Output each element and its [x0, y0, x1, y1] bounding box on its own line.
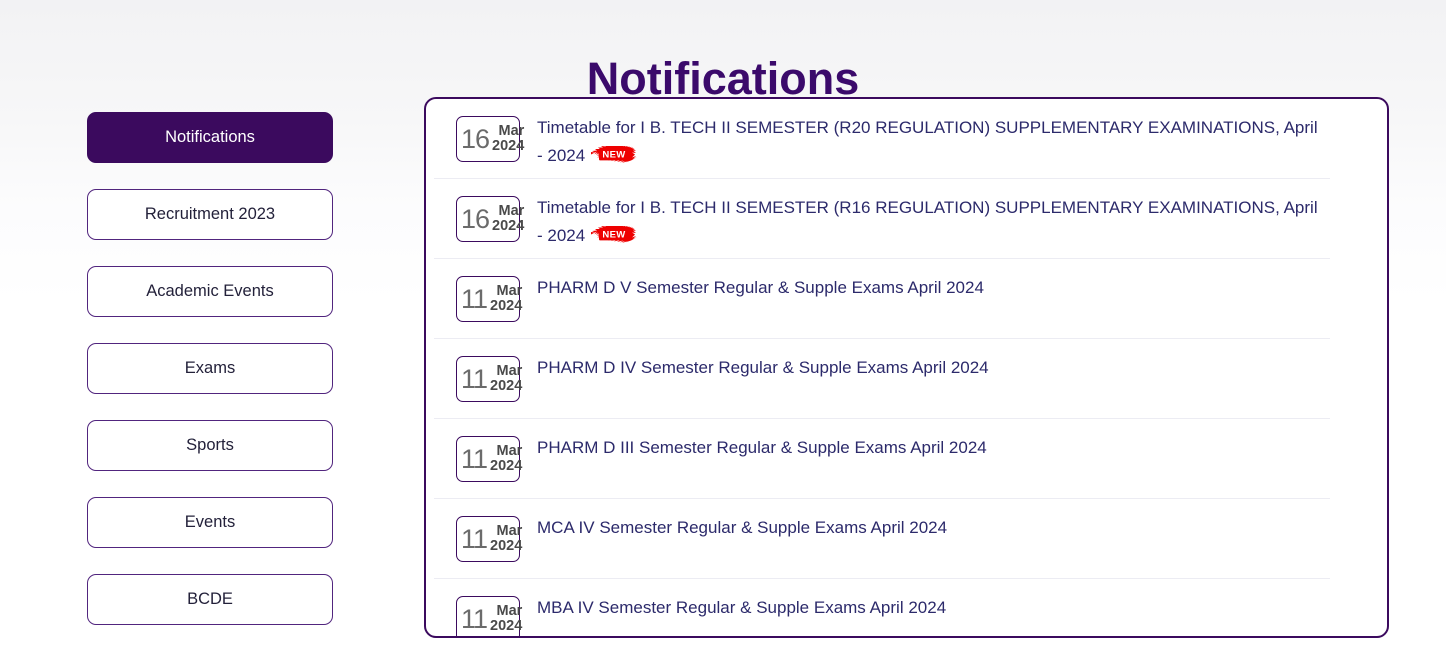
- new-badge-icon: NEW: [591, 226, 637, 243]
- sidebar-item-academic-events[interactable]: Academic Events: [87, 266, 333, 317]
- sidebar-item-events[interactable]: Events: [87, 497, 333, 548]
- date-day: 11: [461, 286, 487, 313]
- notification-row[interactable]: 16Mar2024Timetable for I B. TECH II SEME…: [426, 179, 1387, 259]
- notification-title: PHARM D III Semester Regular & Supple Ex…: [537, 438, 987, 457]
- notification-date-badge: 11Mar2024: [456, 276, 520, 322]
- sidebar-item-label: BCDE: [187, 590, 233, 609]
- notification-date-badge: 11Mar2024: [456, 596, 520, 638]
- date-year: 2024: [490, 299, 522, 314]
- notification-date-badge: 11Mar2024: [456, 436, 520, 482]
- notification-row[interactable]: 11Mar2024PHARM D IV Semester Regular & S…: [426, 339, 1387, 419]
- date-month: Mar: [497, 604, 523, 619]
- date-year: 2024: [490, 379, 522, 394]
- notification-title: PHARM D V Semester Regular & Supple Exam…: [537, 278, 984, 297]
- date-day: 16: [461, 126, 489, 153]
- date-month-year: Mar2024: [492, 204, 524, 234]
- date-day: 11: [461, 366, 487, 393]
- svg-text:NEW: NEW: [603, 229, 626, 240]
- date-month-year: Mar2024: [490, 604, 522, 634]
- date-month: Mar: [499, 124, 525, 139]
- date-month-year: Mar2024: [490, 364, 522, 394]
- date-month: Mar: [497, 284, 523, 299]
- notification-row[interactable]: 16Mar2024Timetable for I B. TECH II SEME…: [426, 99, 1387, 179]
- notification-link[interactable]: PHARM D V Semester Regular & Supple Exam…: [537, 273, 984, 302]
- notification-date-badge: 16Mar2024: [456, 196, 520, 242]
- date-day: 11: [461, 606, 487, 633]
- notification-link[interactable]: Timetable for I B. TECH II SEMESTER (R20…: [537, 113, 1327, 169]
- date-day: 16: [461, 206, 489, 233]
- notifications-list[interactable]: 16Mar2024Timetable for I B. TECH II SEME…: [426, 99, 1387, 638]
- date-month-year: Mar2024: [492, 124, 524, 154]
- notification-title: Timetable for I B. TECH II SEMESTER (R20…: [537, 118, 1318, 165]
- notification-title: MCA IV Semester Regular & Supple Exams A…: [537, 518, 947, 537]
- new-badge-icon: NEW: [591, 146, 637, 163]
- svg-text:NEW: NEW: [603, 149, 626, 160]
- notifications-panel: 16Mar2024Timetable for I B. TECH II SEME…: [424, 97, 1389, 638]
- sidebar-item-label: Sports: [186, 436, 234, 455]
- notification-title: MBA IV Semester Regular & Supple Exams A…: [537, 598, 946, 617]
- notification-link[interactable]: Timetable for I B. TECH II SEMESTER (R16…: [537, 193, 1327, 249]
- notification-date-badge: 11Mar2024: [456, 356, 520, 402]
- date-month-year: Mar2024: [490, 524, 522, 554]
- date-month-year: Mar2024: [490, 284, 522, 314]
- sidebar-item-label: Recruitment 2023: [145, 205, 275, 224]
- date-year: 2024: [490, 539, 522, 554]
- notification-row[interactable]: 11Mar2024PHARM D V Semester Regular & Su…: [426, 259, 1387, 339]
- notification-title: PHARM D IV Semester Regular & Supple Exa…: [537, 358, 989, 377]
- date-month-year: Mar2024: [490, 444, 522, 474]
- notification-link[interactable]: MBA IV Semester Regular & Supple Exams A…: [537, 593, 946, 622]
- date-year: 2024: [492, 219, 524, 234]
- sidebar-item-exams[interactable]: Exams: [87, 343, 333, 394]
- date-day: 11: [461, 446, 487, 473]
- sidebar-item-label: Academic Events: [146, 282, 273, 301]
- date-year: 2024: [490, 459, 522, 474]
- notification-link[interactable]: MCA IV Semester Regular & Supple Exams A…: [537, 513, 947, 542]
- notification-row[interactable]: 11Mar2024PHARM D III Semester Regular & …: [426, 419, 1387, 499]
- sidebar-item-bcde[interactable]: BCDE: [87, 574, 333, 625]
- date-month: Mar: [497, 524, 523, 539]
- date-year: 2024: [492, 139, 524, 154]
- notification-row[interactable]: 11Mar2024MBA IV Semester Regular & Suppl…: [426, 579, 1387, 638]
- notification-link[interactable]: PHARM D III Semester Regular & Supple Ex…: [537, 433, 987, 462]
- date-day: 11: [461, 526, 487, 553]
- notification-row[interactable]: 11Mar2024MCA IV Semester Regular & Suppl…: [426, 499, 1387, 579]
- notification-title: Timetable for I B. TECH II SEMESTER (R16…: [537, 198, 1318, 245]
- sidebar-item-label: Exams: [185, 359, 235, 378]
- sidebar-item-notifications[interactable]: Notifications: [87, 112, 333, 163]
- notification-date-badge: 11Mar2024: [456, 516, 520, 562]
- date-year: 2024: [490, 619, 522, 634]
- sidebar-item-recruitment-2023[interactable]: Recruitment 2023: [87, 189, 333, 240]
- date-month: Mar: [497, 364, 523, 379]
- sidebar-item-label: Notifications: [165, 128, 255, 147]
- date-month: Mar: [499, 204, 525, 219]
- category-sidebar: NotificationsRecruitment 2023Academic Ev…: [87, 112, 333, 651]
- date-month: Mar: [497, 444, 523, 459]
- sidebar-item-label: Events: [185, 513, 235, 532]
- sidebar-item-sports[interactable]: Sports: [87, 420, 333, 471]
- notification-link[interactable]: PHARM D IV Semester Regular & Supple Exa…: [537, 353, 989, 382]
- notification-date-badge: 16Mar2024: [456, 116, 520, 162]
